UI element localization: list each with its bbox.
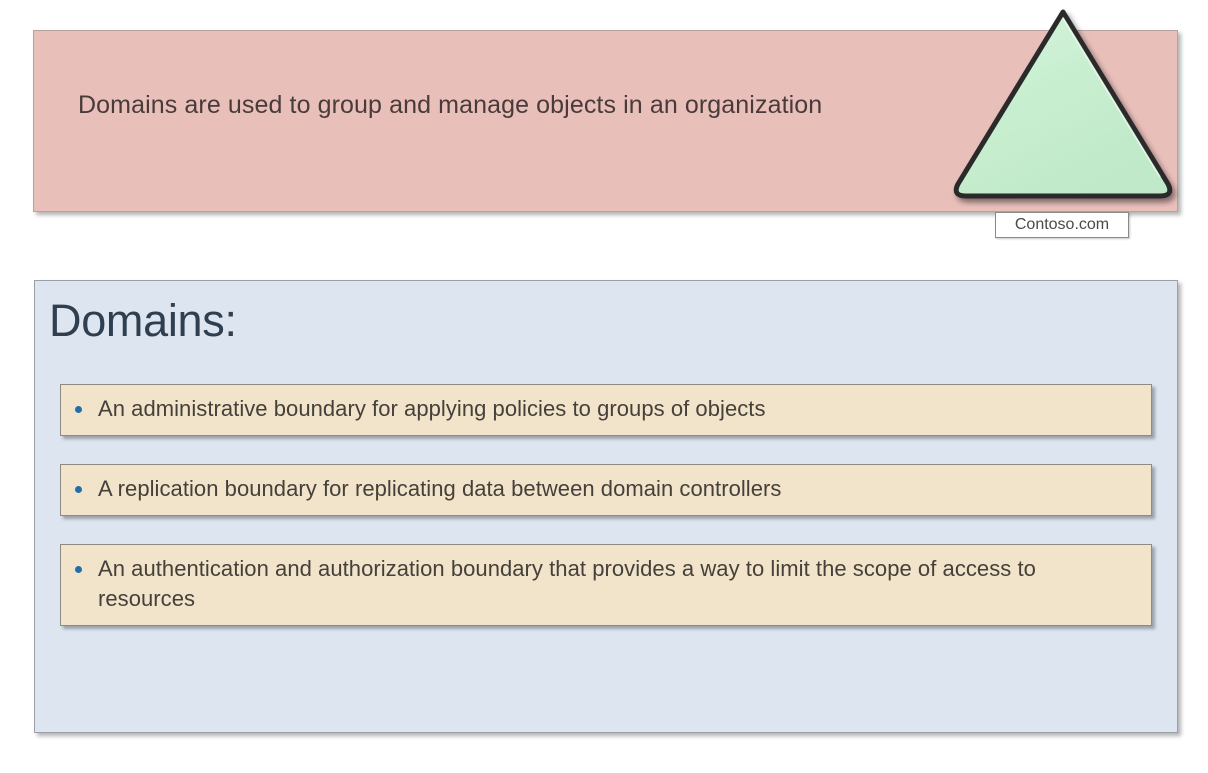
bullet-item: An administrative boundary for applying … <box>60 384 1152 436</box>
bullet-item-text: An authentication and authorization boun… <box>98 554 1137 614</box>
domain-name-text: Contoso.com <box>1015 216 1109 234</box>
bullet-item-text: A replication boundary for replicating d… <box>98 474 781 504</box>
bullet-dot-icon <box>75 406 82 413</box>
bullet-item: An authentication and authorization boun… <box>60 544 1152 626</box>
panel-title: Domains: <box>49 297 237 344</box>
bullet-dot-icon <box>75 566 82 573</box>
intro-banner-text: Domains are used to group and manage obj… <box>78 88 838 124</box>
domains-panel: Domains: An administrative boundary for … <box>34 280 1178 733</box>
bullet-item-text: An administrative boundary for applying … <box>98 394 766 424</box>
domain-name-label: Contoso.com <box>995 212 1129 238</box>
bullet-list: An administrative boundary for applying … <box>60 384 1152 626</box>
bullet-dot-icon <box>75 486 82 493</box>
bullet-item: A replication boundary for replicating d… <box>60 464 1152 516</box>
domain-triangle-icon <box>944 2 1182 207</box>
